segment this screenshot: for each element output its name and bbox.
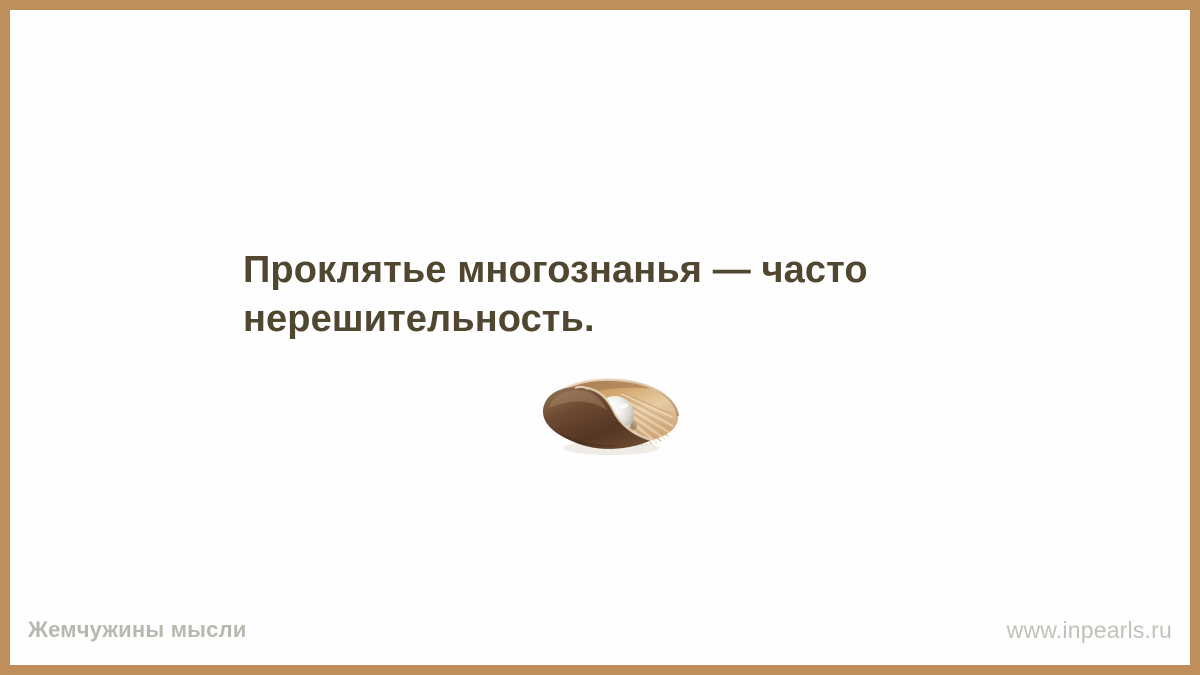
oyster-shell-with-pearl-icon bbox=[535, 370, 685, 460]
site-url-link[interactable]: www.inpearls.ru bbox=[1007, 617, 1172, 644]
quote-card: Проклятье многознанья — часто нерешитель… bbox=[0, 0, 1200, 675]
quote-text: Проклятье многознанья — часто нерешитель… bbox=[243, 246, 1003, 344]
footer: Жемчужины мысли www.inpearls.ru bbox=[10, 603, 1190, 665]
brand-label: Жемчужины мысли bbox=[28, 617, 247, 643]
